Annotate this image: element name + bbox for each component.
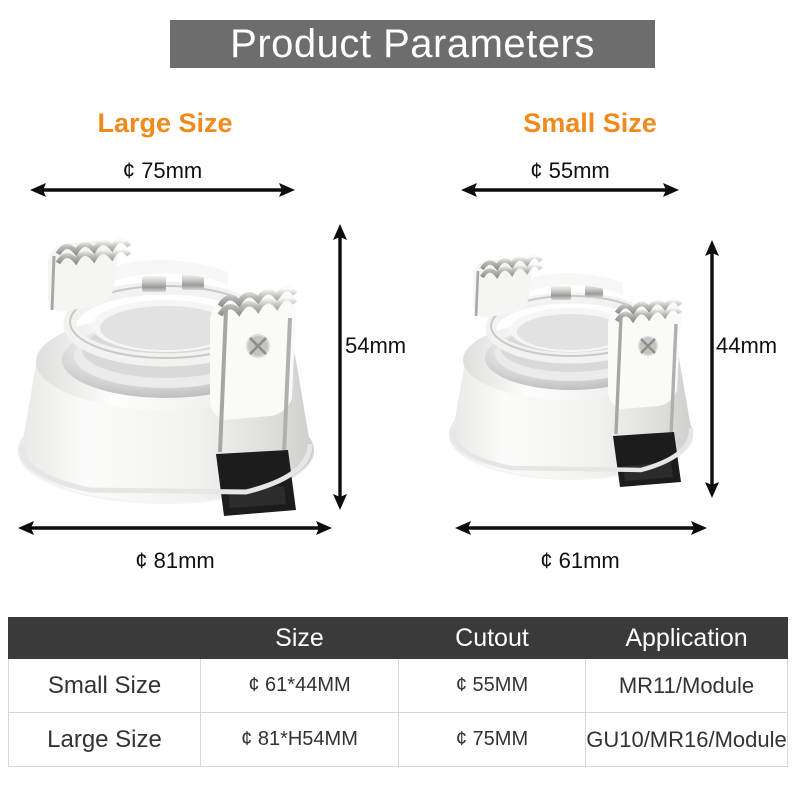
dimension-label-small-top: ¢ 55mm	[460, 158, 680, 184]
table-header-cutout: Cutout	[399, 618, 586, 659]
table-header-application: Application	[586, 618, 788, 659]
row-size-small: ¢ 61*44MM	[201, 659, 399, 713]
row-label-large: Large Size	[9, 713, 201, 767]
table-row: Small Size ¢ 61*44MM ¢ 55MM MR11/Module	[9, 659, 788, 713]
product-image-large	[14, 214, 334, 524]
dimension-label-large-side: 54mm	[345, 333, 415, 359]
row-size-large: ¢ 81*H54MM	[201, 713, 399, 767]
dimension-label-large-top: ¢ 75mm	[30, 158, 295, 184]
dimension-arrow-large-side	[332, 224, 348, 510]
product-image-small	[445, 236, 711, 504]
table-header-row: Size Cutout Application	[9, 618, 788, 659]
specification-table: Size Cutout Application Small Size ¢ 61*…	[8, 617, 788, 767]
dimension-label-large-bottom: ¢ 81mm	[20, 548, 330, 574]
dimension-arrow-small-top	[461, 182, 679, 198]
dimension-arrow-small-bottom	[455, 520, 707, 536]
page-title: Product Parameters	[230, 24, 595, 64]
product-heading-large: Large Size	[0, 108, 330, 139]
page-title-banner: Product Parameters	[170, 20, 655, 68]
table-header-blank	[9, 618, 201, 659]
dimension-arrow-large-top	[30, 182, 295, 198]
row-label-small: Small Size	[9, 659, 201, 713]
dimension-label-small-side: 44mm	[716, 333, 791, 359]
product-heading-small: Small Size	[440, 108, 740, 139]
table-row: Large Size ¢ 81*H54MM ¢ 75MM GU10/MR16/M…	[9, 713, 788, 767]
dimension-arrow-large-bottom	[18, 520, 332, 536]
dimension-label-small-bottom: ¢ 61mm	[455, 548, 705, 574]
row-application-small: MR11/Module	[586, 659, 788, 713]
row-application-large: GU10/MR16/Module	[586, 713, 788, 767]
row-cutout-large: ¢ 75MM	[399, 713, 586, 767]
table-header-size: Size	[201, 618, 399, 659]
row-cutout-small: ¢ 55MM	[399, 659, 586, 713]
dimension-arrow-small-side	[704, 240, 720, 498]
